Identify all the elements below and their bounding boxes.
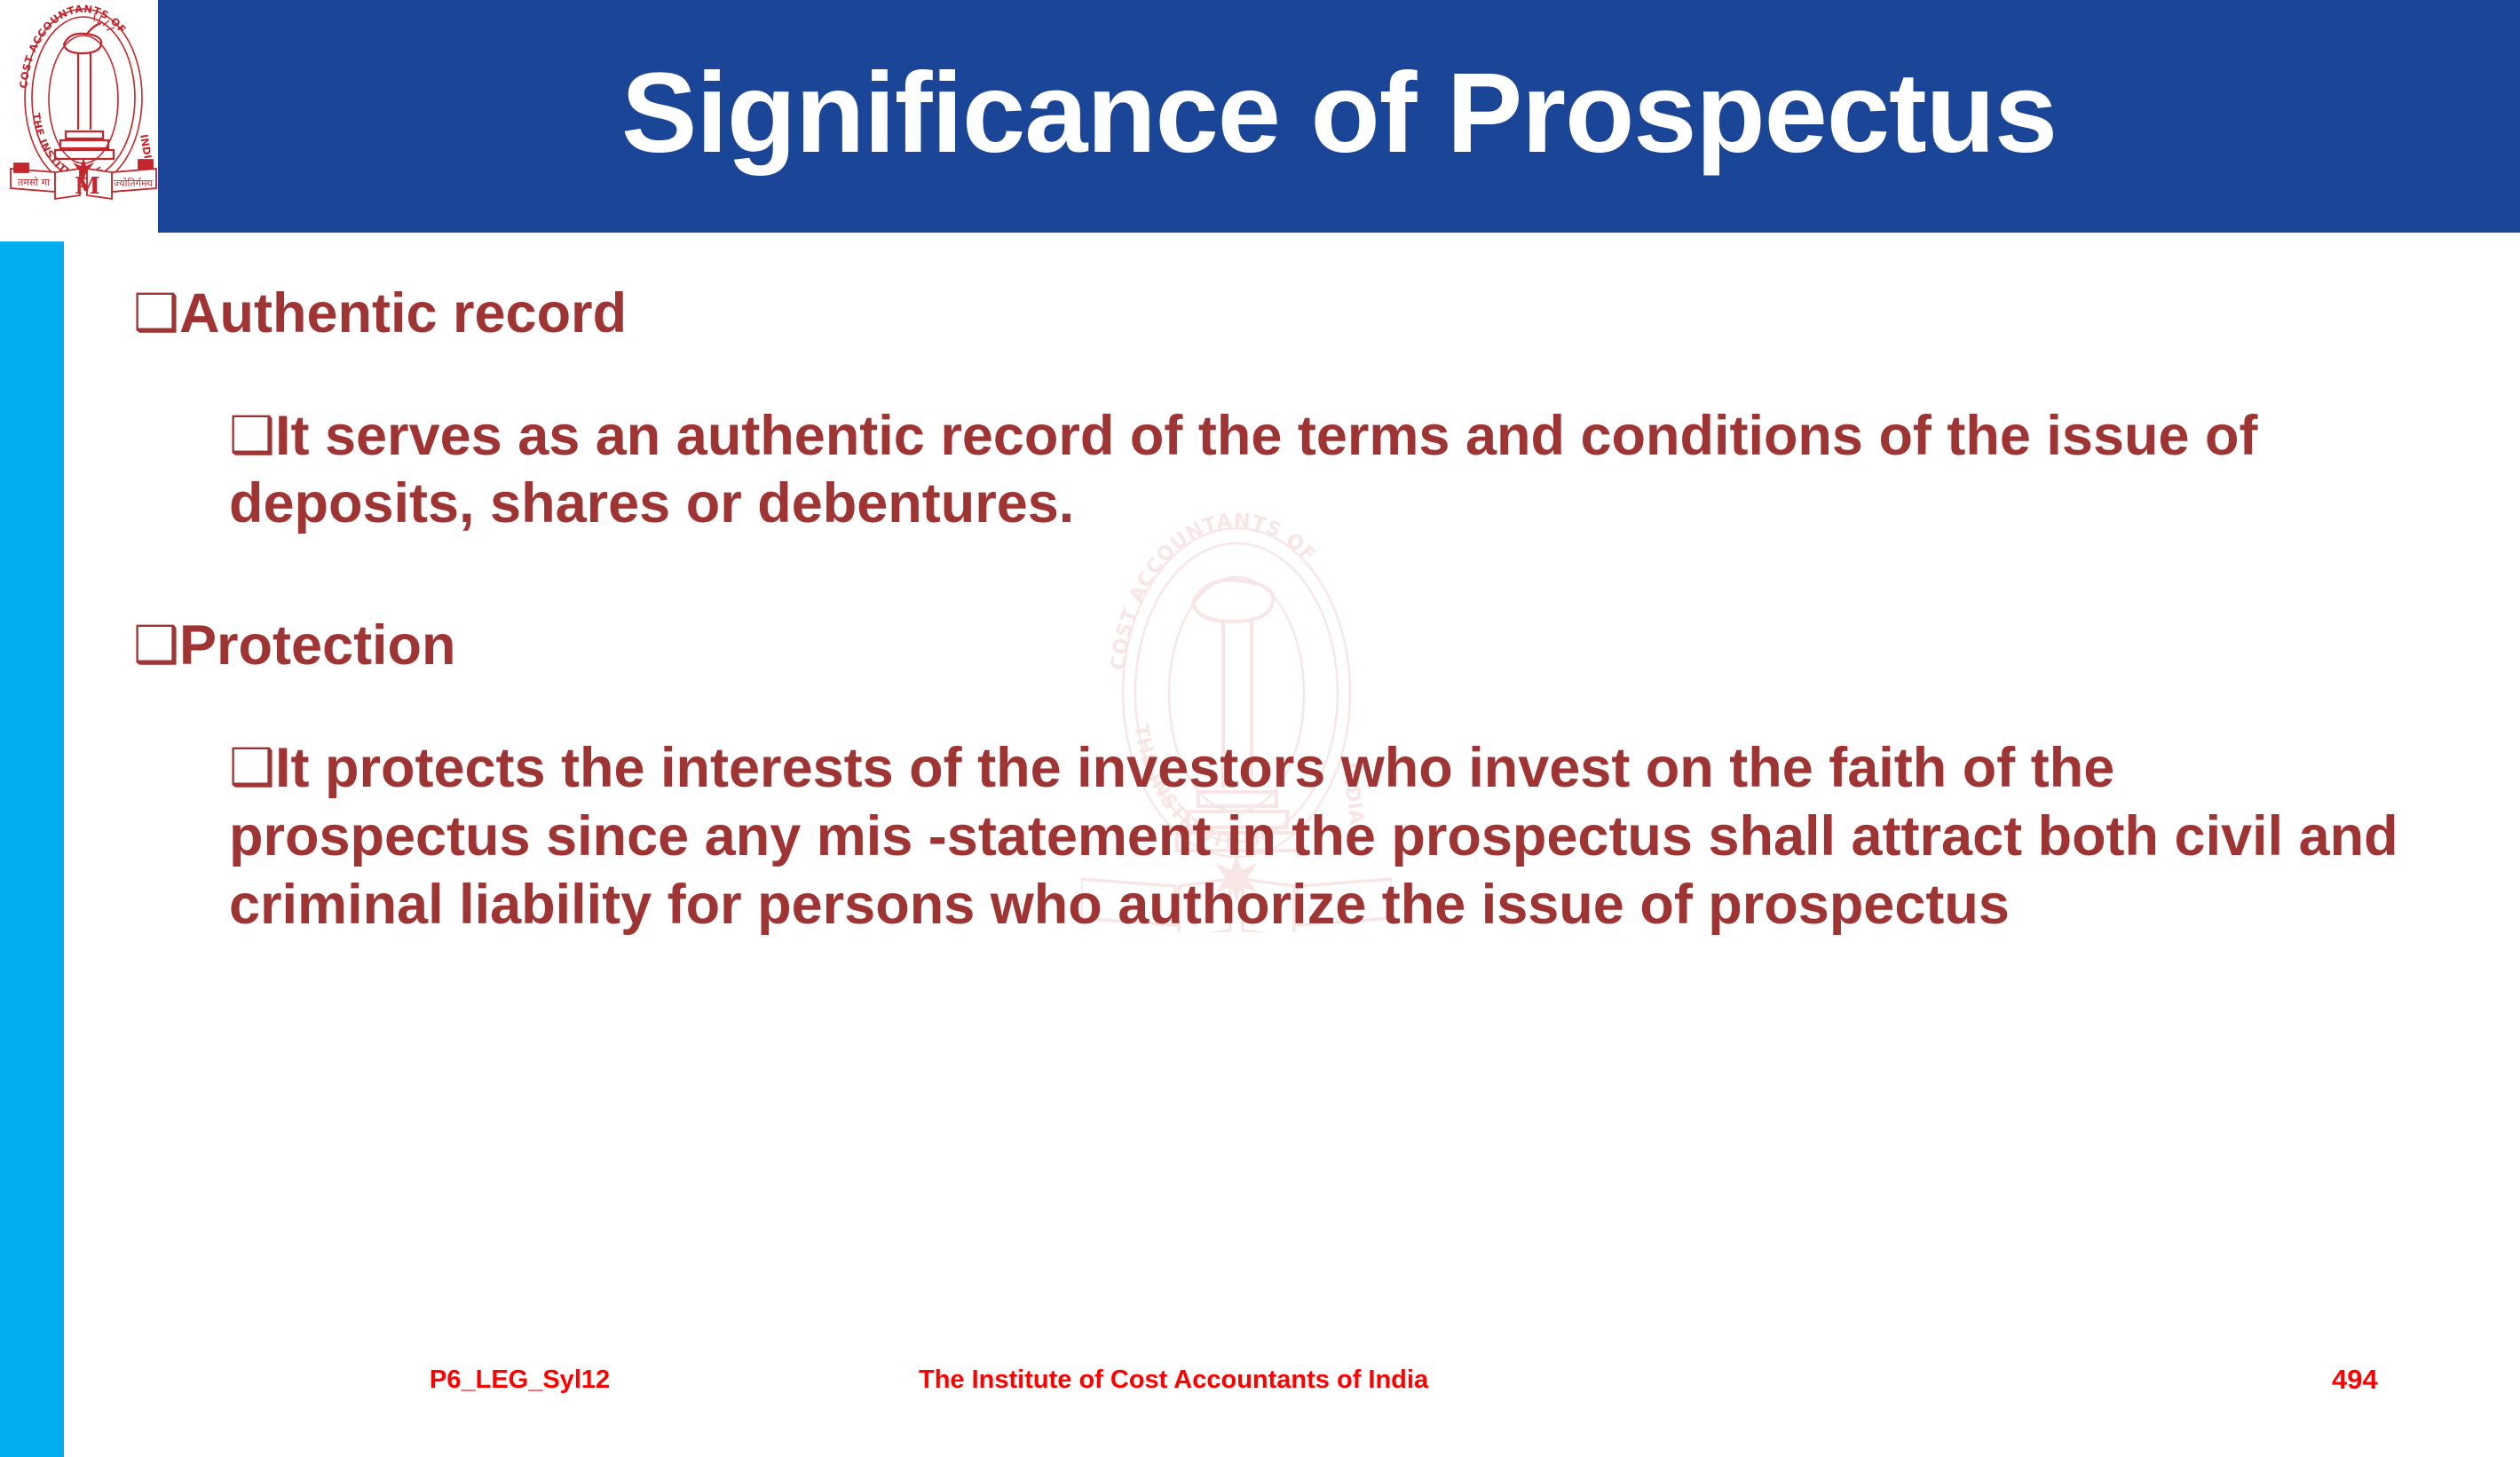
footer-page-number: 494 [2332, 1364, 2378, 1396]
bullet-level2-protection-detail: ❑It protects the interests of the invest… [229, 734, 2430, 939]
spacer [133, 538, 2441, 614]
square-bullet-icon: ❑ [229, 405, 275, 465]
icai-logo: COST ACCOUNTANTS OF THE INSTITUTE OF IND… [9, 2, 158, 229]
square-bullet-icon: ❑ [229, 737, 275, 797]
footer-subject-code: P6_LEG_Syl12 [430, 1366, 610, 1395]
page-title: Significance of Prospectus [158, 0, 2520, 233]
left-accent-strip [0, 242, 64, 1457]
bullet-level2-authentic-record-detail: ❑It serves as an authentic record of the… [229, 402, 2430, 539]
bullet-text: Authentic record [179, 282, 627, 344]
bullet-text: It serves as an authentic record of the … [229, 405, 2258, 535]
svg-text:तमसो मा: तमसो मा [18, 177, 50, 188]
bullet-level1-protection: ❑Protection [133, 614, 2441, 677]
bullet-text: Protection [179, 614, 456, 677]
square-bullet-icon: ❑ [133, 614, 179, 675]
svg-text:M: M [75, 173, 100, 200]
bullet-text: It protects the interests of the investo… [229, 737, 2398, 936]
svg-text:ज्योतिर्गमय: ज्योतिर्गमय [114, 178, 153, 189]
slide-footer: P6_LEG_Syl12 The Institute of Cost Accou… [0, 1358, 2520, 1412]
bullet-level1-authentic-record: ❑Authentic record [133, 282, 2441, 345]
square-bullet-icon: ❑ [133, 282, 179, 343]
spacer [133, 677, 2441, 734]
slide-body: ❑Authentic record ❑It serves as an authe… [133, 282, 2441, 1303]
icai-logo-svg: COST ACCOUNTANTS OF THE INSTITUTE OF IND… [9, 2, 158, 229]
spacer [133, 345, 2441, 402]
footer-organisation: The Institute of Cost Accountants of Ind… [919, 1366, 1428, 1395]
